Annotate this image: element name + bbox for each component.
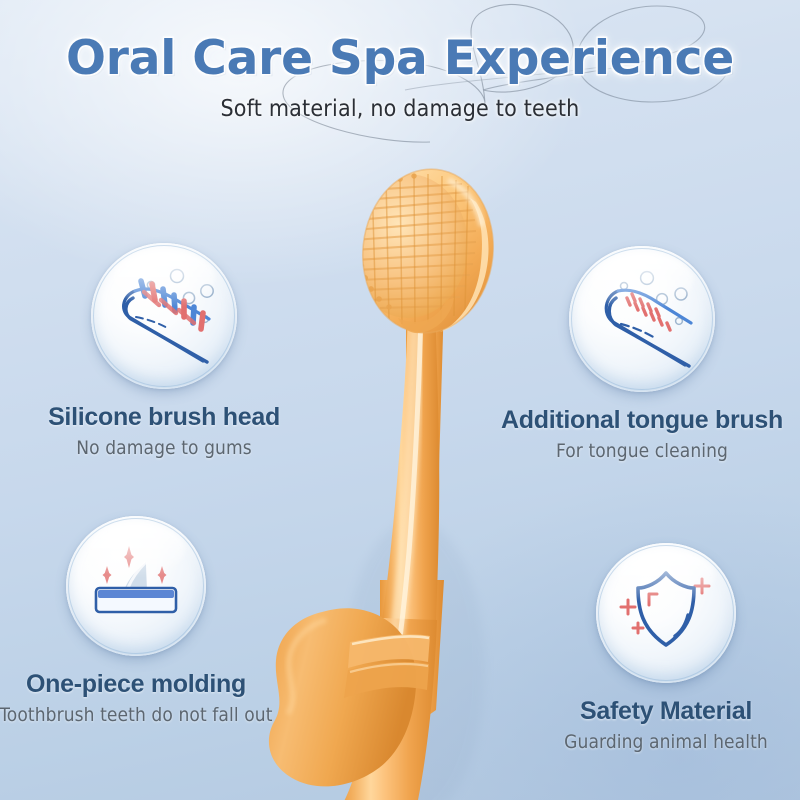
feature-silicone-brush-head: Silicone brush head No damage to gums (18, 243, 310, 459)
feature-subtitle: Toothbrush teeth do not fall out (0, 704, 276, 726)
feature-subtitle: Guarding animal health (532, 731, 800, 753)
feature-subtitle: For tongue cleaning (492, 440, 792, 462)
feature-badge-circle (91, 243, 237, 389)
feature-title: Additional tongue brush (492, 406, 792, 435)
page-title: Oral Care Spa Experience (0, 34, 800, 85)
page-subtitle: Soft material, no damage to teeth (0, 96, 800, 122)
feature-badge-circle (569, 246, 715, 392)
shield-icon (596, 543, 736, 683)
header: Oral Care Spa Experience Soft material, … (0, 34, 800, 122)
feature-subtitle: No damage to gums (18, 437, 310, 459)
tongue-brush-icon (569, 246, 715, 392)
feature-safety-material: Safety Material Guarding animal health (532, 543, 800, 753)
feature-title: Silicone brush head (18, 403, 310, 432)
feature-one-piece-molding: One-piece molding Toothbrush teeth do no… (0, 516, 276, 726)
feature-badge-circle (596, 543, 736, 683)
feature-title: Safety Material (532, 697, 800, 726)
toothbrush-bristles-icon (91, 243, 237, 389)
feature-title: One-piece molding (0, 670, 276, 699)
feature-badge-circle (66, 516, 206, 656)
product-infographic-poster: Oral Care Spa Experience Soft material, … (0, 0, 800, 800)
one-piece-mold-icon (66, 516, 206, 656)
feature-additional-tongue-brush: Additional tongue brush For tongue clean… (492, 246, 792, 462)
